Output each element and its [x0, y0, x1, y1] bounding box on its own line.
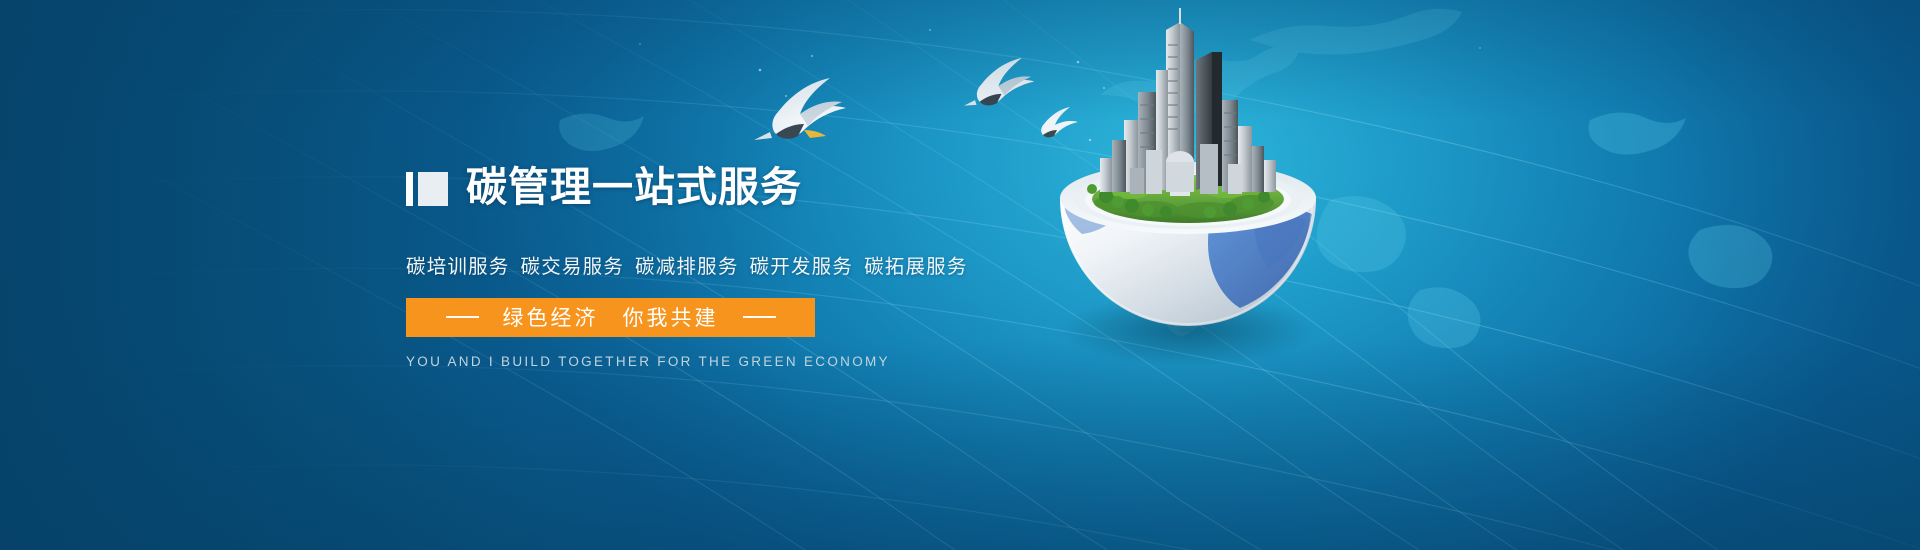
- tower-antenna: [1179, 8, 1181, 24]
- english-tagline: YOU AND I BUILD TOGETHER FOR THE GREEN E…: [406, 354, 815, 369]
- slogan-text: 绿色经济 你我共建: [479, 302, 743, 332]
- page-title: 碳管理一站式服务: [466, 167, 802, 208]
- slogan-bar[interactable]: 绿色经济 你我共建: [406, 298, 815, 337]
- title-row: 碳管理一站式服务: [406, 140, 1166, 236]
- service-item[interactable]: 碳开发服务: [750, 256, 854, 278]
- service-item[interactable]: 碳减排服务: [635, 256, 739, 278]
- service-item[interactable]: 碳交易服务: [521, 256, 625, 278]
- dash-left-icon: [446, 316, 479, 318]
- service-item[interactable]: 碳培训服务: [406, 256, 510, 278]
- title-accent-mark-icon: [406, 172, 448, 206]
- service-item[interactable]: 碳拓展服务: [864, 256, 968, 278]
- hero-banner: 碳管理一站式服务 碳培训服务碳交易服务碳减排服务碳开发服务碳拓展服务 绿色经济 …: [0, 0, 1920, 550]
- dash-right-icon: [743, 316, 776, 318]
- banner-content: 碳管理一站式服务 碳培训服务碳交易服务碳减排服务碳开发服务碳拓展服务 绿色经济 …: [406, 140, 1166, 369]
- service-list: 碳培训服务碳交易服务碳减排服务碳开发服务碳拓展服务: [406, 250, 1166, 279]
